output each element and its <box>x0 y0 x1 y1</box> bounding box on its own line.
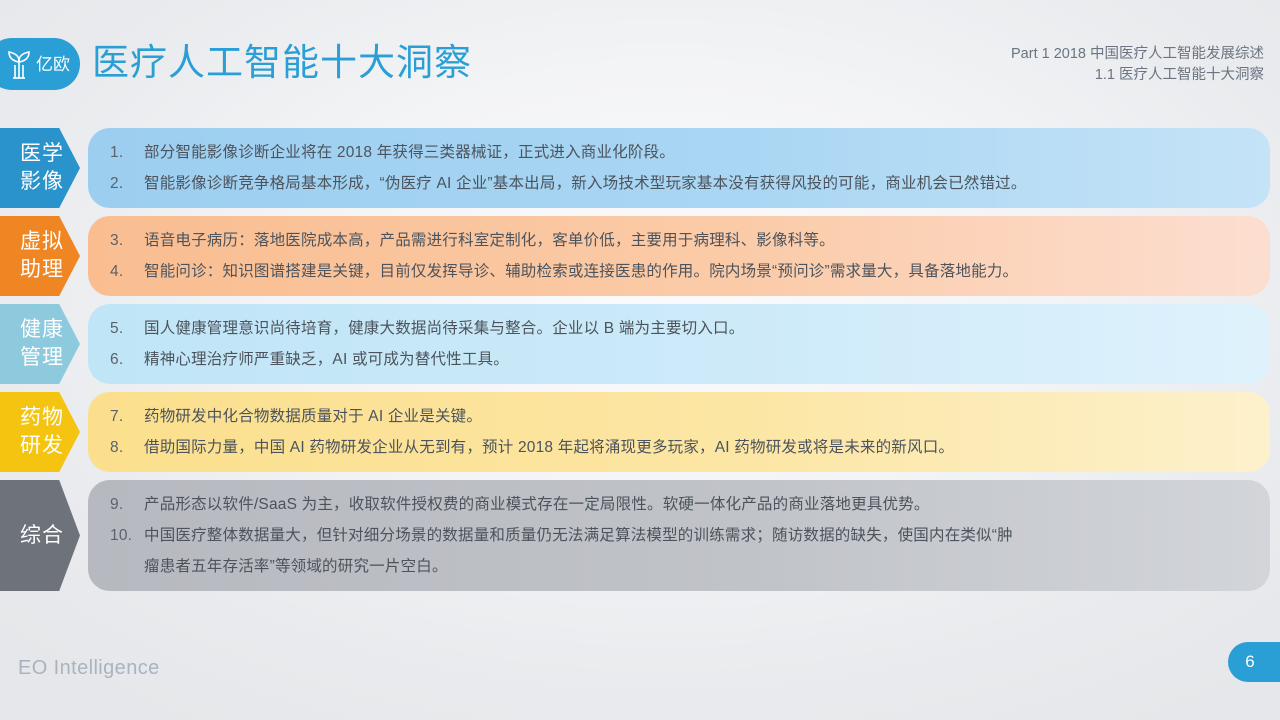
yiou-tree-logo-icon <box>2 47 36 81</box>
insight-item: 7.药物研发中化合物数据质量对于 AI 企业是关键。 <box>110 401 1250 432</box>
insight-item-number: 7. <box>110 401 144 432</box>
insight-category-label-line1: 综合 <box>20 522 64 550</box>
slide-canvas: 亿欧 医疗人工智能十大洞察 Part 1 2018 中国医疗人工智能发展综述 1… <box>0 0 1280 720</box>
header-meta-line-2: 1.1 医疗人工智能十大洞察 <box>1011 65 1264 86</box>
insight-item: 8.借助国际力量，中国 AI 药物研发企业从无到有，预计 2018 年起将涌现更… <box>110 432 1250 463</box>
insight-panel: 3.语音电子病历：落地医院成本高，产品需进行科室定制化，客单价低，主要用于病理科… <box>88 216 1270 296</box>
insight-item-number: 8. <box>110 432 144 463</box>
insight-item: 1.部分智能影像诊断企业将在 2018 年获得三类器械证，正式进入商业化阶段。 <box>110 137 1250 168</box>
insight-category-label-line2: 助理 <box>20 256 64 284</box>
insight-item: 2.智能影像诊断竞争格局基本形成，“伪医疗 AI 企业”基本出局，新入场技术型玩… <box>110 168 1250 199</box>
insight-category-tab[interactable]: 健康管理 <box>0 304 80 384</box>
insight-category-tab[interactable]: 医学影像 <box>0 128 80 208</box>
insight-item-number: 4. <box>110 256 144 287</box>
insight-category-tab[interactable]: 药物研发 <box>0 392 80 472</box>
brand-logo-text: 亿欧 <box>36 56 70 73</box>
insight-item-number: 2. <box>110 168 144 199</box>
footer-brand: EO Intelligence <box>18 657 160 680</box>
insight-row: 5.国人健康管理意识尚待培育，健康大数据尚待采集与整合。企业以 B 端为主要切入… <box>0 304 1280 384</box>
insight-panel: 7.药物研发中化合物数据质量对于 AI 企业是关键。8.借助国际力量，中国 AI… <box>88 392 1270 472</box>
insight-item-text: 国人健康管理意识尚待培育，健康大数据尚待采集与整合。企业以 B 端为主要切入口。 <box>144 313 1250 344</box>
insight-item-text: 智能问诊：知识图谱搭建是关键，目前仅发挥导诊、辅助检索或连接医患的作用。院内场景… <box>144 256 1250 287</box>
page-number-badge: 6 <box>1228 642 1280 682</box>
brand-logo: 亿欧 <box>0 38 80 90</box>
insight-rows: 1.部分智能影像诊断企业将在 2018 年获得三类器械证，正式进入商业化阶段。2… <box>0 128 1280 599</box>
insight-item-number: 1. <box>110 137 144 168</box>
insight-item-text: 部分智能影像诊断企业将在 2018 年获得三类器械证，正式进入商业化阶段。 <box>144 137 1250 168</box>
insight-item: 5.国人健康管理意识尚待培育，健康大数据尚待采集与整合。企业以 B 端为主要切入… <box>110 313 1250 344</box>
insight-row: 3.语音电子病历：落地医院成本高，产品需进行科室定制化，客单价低，主要用于病理科… <box>0 216 1280 296</box>
insight-item-text: 语音电子病历：落地医院成本高，产品需进行科室定制化，客单价低，主要用于病理科、影… <box>144 225 1250 256</box>
insight-category-tab[interactable]: 综合 <box>0 480 80 591</box>
insight-item: 10.中国医疗整体数据量大，但针对细分场景的数据量和质量仍无法满足算法模型的训练… <box>110 520 1250 551</box>
insight-category-label-line1: 药物 <box>20 404 64 432</box>
header-breadcrumb: Part 1 2018 中国医疗人工智能发展综述 1.1 医疗人工智能十大洞察 <box>1011 44 1264 86</box>
insight-category-label-line2: 影像 <box>20 168 64 196</box>
insight-item-number: 9. <box>110 489 144 520</box>
insight-item-number: 10. <box>110 520 144 551</box>
insight-item-text: 瘤患者五年存活率”等领域的研究一片空白。 <box>144 551 1250 582</box>
insight-category-label-line2: 管理 <box>20 344 64 372</box>
insight-item-text: 药物研发中化合物数据质量对于 AI 企业是关键。 <box>144 401 1250 432</box>
insight-panel: 1.部分智能影像诊断企业将在 2018 年获得三类器械证，正式进入商业化阶段。2… <box>88 128 1270 208</box>
insight-item-number: 5. <box>110 313 144 344</box>
insight-item: 6.精神心理治疗师严重缺乏，AI 或可成为替代性工具。 <box>110 344 1250 375</box>
insight-item: 4.智能问诊：知识图谱搭建是关键，目前仅发挥导诊、辅助检索或连接医患的作用。院内… <box>110 256 1250 287</box>
insight-category-label-line2: 研发 <box>20 432 64 460</box>
insight-category-label-line1: 虚拟 <box>20 228 64 256</box>
insight-item-text: 产品形态以软件/SaaS 为主，收取软件授权费的商业模式存在一定局限性。软硬一体… <box>144 489 1250 520</box>
insight-item-text: 智能影像诊断竞争格局基本形成，“伪医疗 AI 企业”基本出局，新入场技术型玩家基… <box>144 168 1250 199</box>
insight-item: 9.产品形态以软件/SaaS 为主，收取软件授权费的商业模式存在一定局限性。软硬… <box>110 489 1250 520</box>
insight-item-text: 精神心理治疗师严重缺乏，AI 或可成为替代性工具。 <box>144 344 1250 375</box>
insight-panel: 9.产品形态以软件/SaaS 为主，收取软件授权费的商业模式存在一定局限性。软硬… <box>88 480 1270 591</box>
insight-category-tab[interactable]: 虚拟助理 <box>0 216 80 296</box>
insight-category-label-line1: 健康 <box>20 316 64 344</box>
insight-category-label-line1: 医学 <box>20 140 64 168</box>
insight-row: 7.药物研发中化合物数据质量对于 AI 企业是关键。8.借助国际力量，中国 AI… <box>0 392 1280 472</box>
insight-row: 1.部分智能影像诊断企业将在 2018 年获得三类器械证，正式进入商业化阶段。2… <box>0 128 1280 208</box>
insight-item: 3.语音电子病历：落地医院成本高，产品需进行科室定制化，客单价低，主要用于病理科… <box>110 225 1250 256</box>
slide-header: 亿欧 医疗人工智能十大洞察 Part 1 2018 中国医疗人工智能发展综述 1… <box>0 34 1280 96</box>
page-title: 医疗人工智能十大洞察 <box>92 34 472 92</box>
insight-item-number: 6. <box>110 344 144 375</box>
insight-item-text: 中国医疗整体数据量大，但针对细分场景的数据量和质量仍无法满足算法模型的训练需求；… <box>144 520 1250 551</box>
insight-item-text: 借助国际力量，中国 AI 药物研发企业从无到有，预计 2018 年起将涌现更多玩… <box>144 432 1250 463</box>
header-meta-line-1: Part 1 2018 中国医疗人工智能发展综述 <box>1011 44 1264 65</box>
insight-row: 9.产品形态以软件/SaaS 为主，收取软件授权费的商业模式存在一定局限性。软硬… <box>0 480 1280 591</box>
insight-panel: 5.国人健康管理意识尚待培育，健康大数据尚待采集与整合。企业以 B 端为主要切入… <box>88 304 1270 384</box>
insight-item-number: 3. <box>110 225 144 256</box>
insight-item: 瘤患者五年存活率”等领域的研究一片空白。 <box>110 551 1250 582</box>
